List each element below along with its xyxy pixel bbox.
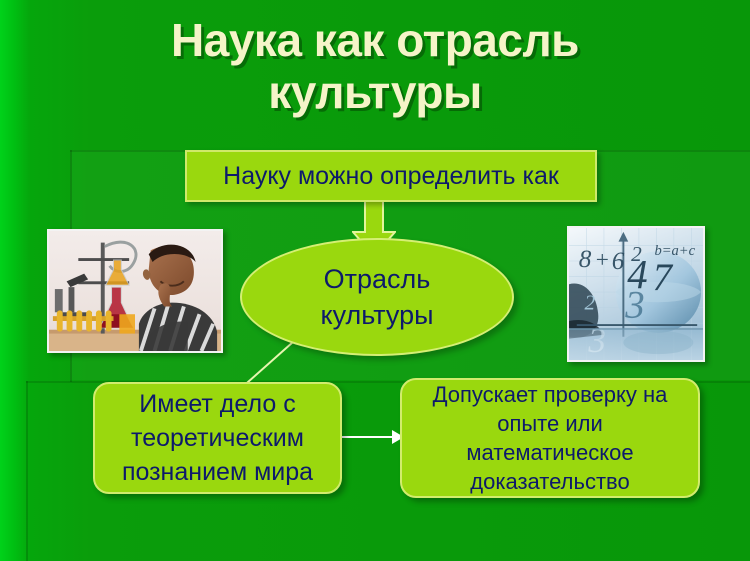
background-edge-left-lower xyxy=(26,381,28,561)
svg-text:7: 7 xyxy=(653,256,674,299)
node-bottom-right-box[interactable]: Допускает проверку на опыте или математи… xyxy=(400,378,700,498)
mathematics-collage-photo: 8 + 6 2 b=a+c 4 7 3 3 2 xyxy=(567,226,705,362)
svg-text:+: + xyxy=(594,247,610,273)
boy-in-chemistry-lab-photo xyxy=(47,229,223,353)
slide-title: Наука как отрасль культуры xyxy=(0,14,750,118)
node-top-box[interactable]: Науку можно определить как xyxy=(185,150,597,202)
svg-text:8: 8 xyxy=(579,246,592,273)
slide-canvas: Наука как отрасль культуры xyxy=(0,0,750,561)
svg-text:6: 6 xyxy=(612,248,625,275)
node-center-ellipse[interactable]: Отрасль культуры xyxy=(240,238,514,356)
svg-text:2: 2 xyxy=(585,291,596,315)
svg-text:3: 3 xyxy=(624,283,644,326)
node-bottom-left-box[interactable]: Имеет дело с теоретическим познанием мир… xyxy=(93,382,342,494)
